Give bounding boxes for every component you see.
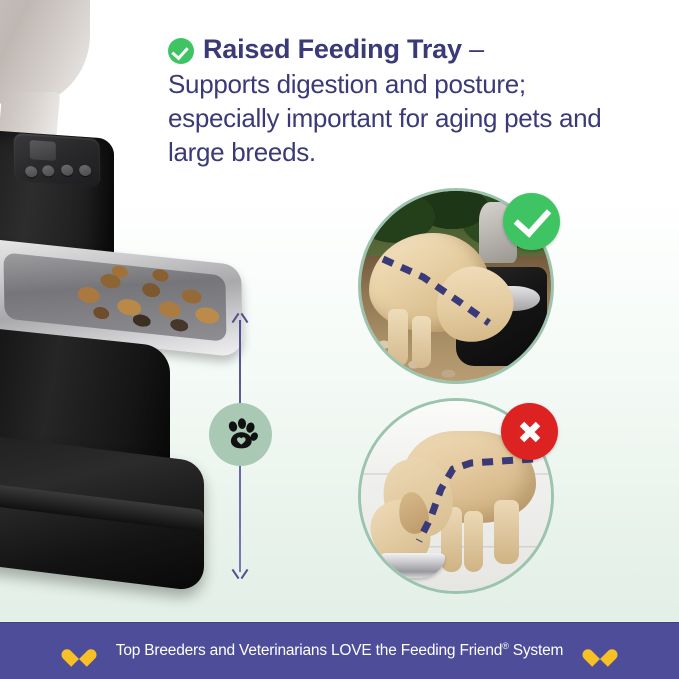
paw-print-icon bbox=[223, 417, 259, 453]
check-icon bbox=[514, 199, 552, 238]
arrow-head-up-icon bbox=[231, 312, 249, 324]
check-circle-badge-good bbox=[503, 193, 560, 250]
dog-leg bbox=[388, 309, 409, 366]
heart-icon-right bbox=[589, 640, 611, 662]
arrow-head-down-icon bbox=[231, 568, 249, 580]
paw-print-badge bbox=[209, 403, 272, 466]
control-button-2[interactable] bbox=[42, 165, 54, 177]
bottom-banner: Top Breeders and Veterinarians LOVE the … bbox=[0, 622, 679, 679]
headline-title-text: Raised Feeding Tray bbox=[203, 34, 462, 64]
heart-icon-left bbox=[68, 640, 90, 662]
control-button-1[interactable] bbox=[25, 166, 37, 178]
dog-leg bbox=[412, 316, 431, 367]
headline-title-row: Raised Feeding Tray – bbox=[168, 33, 638, 65]
infographic-canvas: Raised Feeding Tray – Supports digestion… bbox=[0, 0, 679, 679]
control-button-3[interactable] bbox=[61, 164, 73, 176]
banner-text: Top Breeders and Veterinarians LOVE the … bbox=[116, 641, 563, 660]
page-title: Raised Feeding Tray – bbox=[203, 33, 484, 65]
x-circle-badge-bad bbox=[501, 403, 558, 460]
check-circle-icon bbox=[168, 38, 194, 64]
lcd-display bbox=[30, 140, 56, 161]
headline-block: Raised Feeding Tray – Supports digestion… bbox=[168, 33, 638, 169]
headline-body-text: Supports digestion and posture; especial… bbox=[168, 67, 638, 169]
control-button-4[interactable] bbox=[79, 165, 91, 177]
x-icon bbox=[515, 417, 545, 447]
banner-text-after: System bbox=[509, 643, 564, 660]
control-panel bbox=[14, 133, 101, 187]
banner-text-before: Top Breeders and Veterinarians LOVE the … bbox=[116, 643, 502, 660]
button-row bbox=[25, 162, 95, 181]
food-hopper bbox=[0, 0, 90, 107]
headline-dash: – bbox=[462, 34, 484, 64]
dog-leg bbox=[464, 511, 483, 572]
dog-leg bbox=[494, 500, 519, 565]
